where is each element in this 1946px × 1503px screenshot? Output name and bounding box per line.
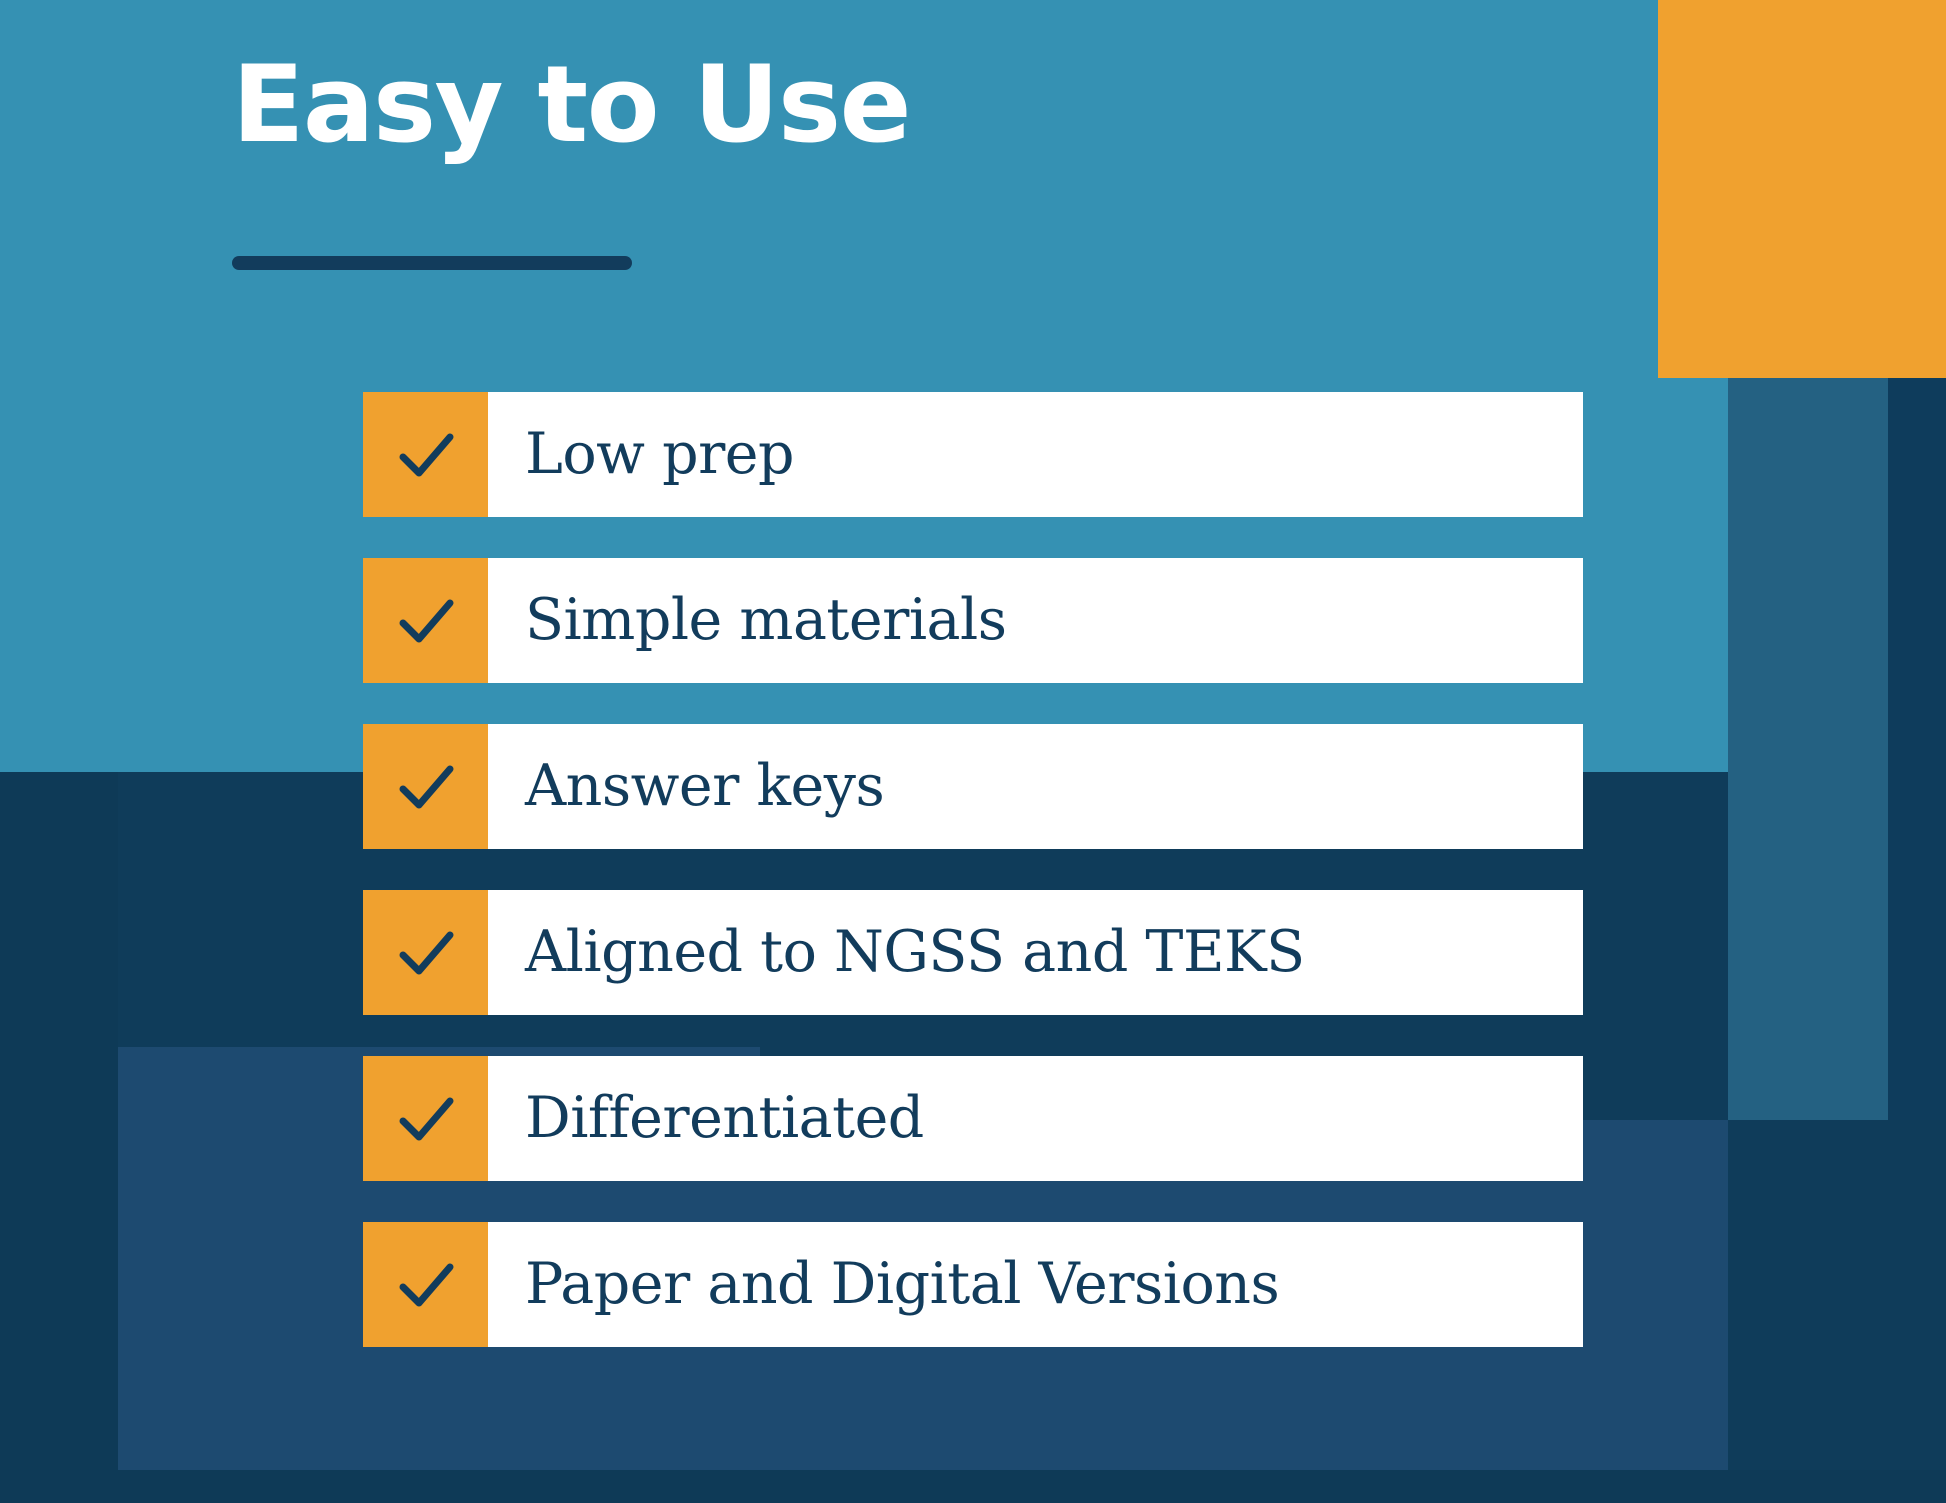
check-icon bbox=[395, 424, 457, 486]
slide-canvas: Easy to Use Low prep bbox=[0, 0, 1946, 1503]
list-item-label-wrap: Paper and Digital Versions bbox=[488, 1222, 1583, 1347]
check-icon bbox=[395, 1088, 457, 1150]
background-block-mid-blue bbox=[1728, 378, 1888, 1120]
list-item-label-wrap: Aligned to NGSS and TEKS bbox=[488, 890, 1583, 1015]
list-item[interactable]: Low prep bbox=[363, 392, 1583, 517]
list-item-label-wrap: Answer keys bbox=[488, 724, 1583, 849]
checkbox-checked[interactable] bbox=[363, 890, 488, 1015]
list-item-label: Differentiated bbox=[525, 1089, 924, 1149]
check-icon bbox=[395, 1254, 457, 1316]
list-item[interactable]: Simple materials bbox=[363, 558, 1583, 683]
checkbox-checked[interactable] bbox=[363, 1056, 488, 1181]
checkbox-checked[interactable] bbox=[363, 558, 488, 683]
checkbox-checked[interactable] bbox=[363, 392, 488, 517]
list-item[interactable]: Paper and Digital Versions bbox=[363, 1222, 1583, 1347]
list-item-label: Simple materials bbox=[525, 591, 1007, 651]
header: Easy to Use bbox=[232, 52, 910, 158]
checklist: Low prep Simple materials bbox=[363, 392, 1583, 1347]
list-item-label: Low prep bbox=[525, 425, 794, 485]
list-item-label-wrap: Low prep bbox=[488, 392, 1583, 517]
list-item-label-wrap: Simple materials bbox=[488, 558, 1583, 683]
check-icon bbox=[395, 756, 457, 818]
list-item[interactable]: Answer keys bbox=[363, 724, 1583, 849]
list-item-label: Aligned to NGSS and TEKS bbox=[525, 923, 1305, 983]
list-item[interactable]: Aligned to NGSS and TEKS bbox=[363, 890, 1583, 1015]
check-icon bbox=[395, 590, 457, 652]
checkbox-checked[interactable] bbox=[363, 724, 488, 849]
list-item-label: Answer keys bbox=[525, 757, 884, 817]
background-block-right-dark bbox=[1888, 378, 1946, 1120]
background-block-left-dark bbox=[0, 772, 118, 1503]
page-title: Easy to Use bbox=[232, 52, 910, 158]
checkbox-checked[interactable] bbox=[363, 1222, 488, 1347]
list-item[interactable]: Differentiated bbox=[363, 1056, 1583, 1181]
title-underline-rule bbox=[232, 256, 632, 270]
list-item-label: Paper and Digital Versions bbox=[525, 1255, 1279, 1315]
check-icon bbox=[395, 922, 457, 984]
background-block-orange bbox=[1658, 0, 1946, 378]
background-block-bottom-strip bbox=[0, 1470, 1946, 1503]
list-item-label-wrap: Differentiated bbox=[488, 1056, 1583, 1181]
